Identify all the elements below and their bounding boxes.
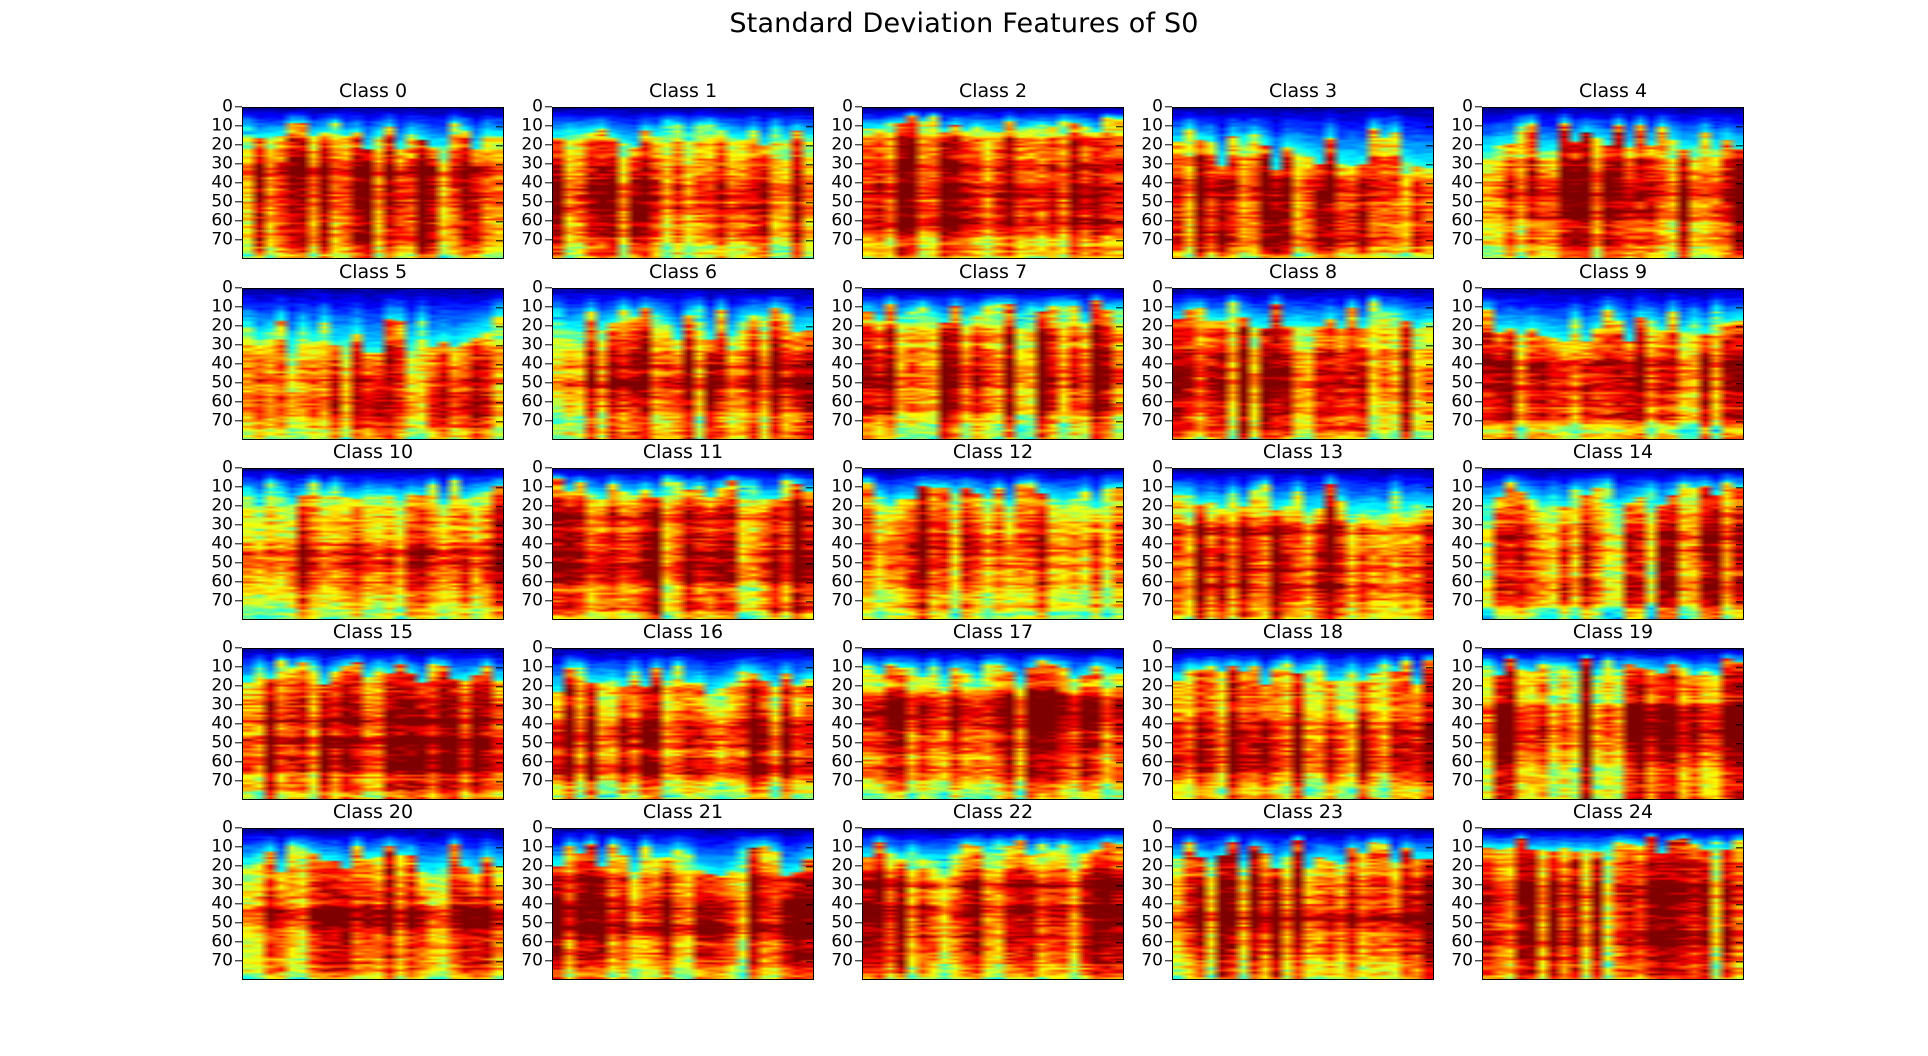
y-tick-label: 30 [1141, 517, 1163, 534]
y-tick-label: 20 [831, 318, 853, 335]
y-tick-mark [1165, 220, 1172, 221]
y-tick-mark [545, 201, 552, 202]
y-tick-label: 50 [1141, 375, 1163, 392]
y-tick-label: 0 [1462, 640, 1473, 657]
subplot-title: Class 7 [862, 261, 1124, 283]
subplot-title: Class 18 [1172, 621, 1434, 643]
y-tick-mark-right [1116, 724, 1123, 725]
y-tick-mark [855, 486, 862, 487]
y-tick-label: 10 [1141, 479, 1163, 496]
y-tick-mark-right [496, 544, 503, 545]
y-tick-mark-right [806, 240, 813, 241]
y-tick-mark-right [496, 202, 503, 203]
y-tick-mark [855, 306, 862, 307]
y-tick-mark [235, 486, 242, 487]
y-tick-label: 40 [521, 175, 543, 192]
heatmap-axes [1482, 828, 1744, 980]
y-tick-mark-right [1116, 563, 1123, 564]
subplot-class-11: Class 11010203040506070 [552, 468, 814, 620]
y-tick-label: 10 [1141, 839, 1163, 856]
y-tick-mark-right [1426, 563, 1433, 564]
y-tick-label: 40 [1451, 896, 1473, 913]
y-tick-mark [1475, 524, 1482, 525]
y-axis: 010203040506070 [1126, 828, 1172, 980]
y-tick-mark-right [1426, 601, 1433, 602]
y-tick-mark [545, 960, 552, 961]
y-tick-mark-right [1736, 421, 1743, 422]
y-tick-label: 70 [1451, 953, 1473, 970]
y-tick-mark-right [1736, 525, 1743, 526]
y-tick-mark-right [1426, 183, 1433, 184]
y-tick-mark [235, 742, 242, 743]
y-tick-mark [855, 287, 862, 288]
y-tick-label: 10 [211, 659, 233, 676]
y-tick-mark [855, 144, 862, 145]
y-tick-label: 50 [1141, 555, 1163, 572]
y-tick-mark [1165, 467, 1172, 468]
subplot-title: Class 23 [1172, 801, 1434, 823]
heatmap-axes [1172, 107, 1434, 259]
heatmap-image [863, 289, 1123, 439]
y-tick-mark-right [806, 126, 813, 127]
y-tick-mark-right [496, 307, 503, 308]
y-tick-label: 30 [521, 337, 543, 354]
y-tick-mark-right [496, 326, 503, 327]
y-tick-mark [1475, 884, 1482, 885]
y-tick-label: 20 [521, 137, 543, 154]
y-tick-mark [1165, 884, 1172, 885]
y-tick-mark-right [806, 648, 813, 649]
y-tick-mark [1165, 742, 1172, 743]
y-tick-mark-right [1426, 686, 1433, 687]
subplot-title: Class 11 [552, 441, 814, 463]
y-tick-mark-right [806, 847, 813, 848]
y-tick-mark [235, 163, 242, 164]
y-tick-mark [855, 780, 862, 781]
y-tick-label: 30 [1141, 337, 1163, 354]
y-tick-mark-right [1116, 582, 1123, 583]
y-tick-label: 20 [211, 498, 233, 515]
y-tick-label: 60 [1451, 213, 1473, 230]
y-tick-mark-right [1116, 240, 1123, 241]
heatmap-axes [552, 468, 814, 620]
y-tick-label: 50 [1451, 375, 1473, 392]
y-tick-mark-right [806, 743, 813, 744]
y-tick-mark-right [1116, 364, 1123, 365]
y-tick-mark [235, 723, 242, 724]
y-tick-mark [235, 287, 242, 288]
y-tick-label: 50 [831, 915, 853, 932]
subplot-title: Class 2 [862, 80, 1124, 102]
y-tick-mark [1475, 287, 1482, 288]
y-tick-mark [545, 543, 552, 544]
y-tick-mark-right [1736, 866, 1743, 867]
y-tick-mark [1475, 505, 1482, 506]
y-tick-mark-right [806, 781, 813, 782]
y-tick-mark-right [1736, 762, 1743, 763]
y-tick-mark-right [1426, 364, 1433, 365]
y-tick-label: 60 [211, 394, 233, 411]
y-tick-mark-right [1426, 525, 1433, 526]
y-tick-label: 0 [222, 640, 233, 657]
y-tick-label: 30 [521, 877, 543, 894]
y-tick-mark [545, 524, 552, 525]
y-tick-label: 40 [211, 536, 233, 553]
y-tick-label: 30 [211, 517, 233, 534]
y-tick-label: 10 [211, 839, 233, 856]
y-tick-mark-right [806, 221, 813, 222]
y-tick-mark-right [496, 582, 503, 583]
y-tick-label: 10 [1141, 299, 1163, 316]
y-tick-mark-right [496, 145, 503, 146]
y-tick-mark-right [806, 828, 813, 829]
y-tick-mark [1165, 581, 1172, 582]
y-tick-mark [235, 144, 242, 145]
y-tick-mark-right [496, 402, 503, 403]
y-tick-label: 10 [1451, 299, 1473, 316]
y-tick-mark [1475, 144, 1482, 145]
y-tick-mark [235, 201, 242, 202]
y-tick-mark [235, 685, 242, 686]
y-axis: 010203040506070 [816, 468, 862, 620]
y-tick-mark [545, 325, 552, 326]
y-tick-label: 50 [831, 194, 853, 211]
heatmap-image [1173, 289, 1433, 439]
y-tick-label: 30 [211, 337, 233, 354]
y-tick-mark [855, 467, 862, 468]
y-tick-label: 40 [211, 896, 233, 913]
y-tick-mark-right [1426, 506, 1433, 507]
y-tick-mark-right [1116, 383, 1123, 384]
y-tick-label: 20 [1451, 858, 1473, 875]
y-tick-label: 20 [211, 318, 233, 335]
y-tick-label: 50 [831, 735, 853, 752]
y-tick-mark-right [1426, 781, 1433, 782]
y-axis: 010203040506070 [506, 648, 552, 800]
y-tick-label: 0 [1152, 460, 1163, 477]
y-tick-mark [855, 106, 862, 107]
y-tick-mark [545, 884, 552, 885]
y-tick-mark [1165, 363, 1172, 364]
subplot-class-6: Class 6010203040506070 [552, 288, 814, 440]
heatmap-image [863, 469, 1123, 619]
y-tick-mark-right [1426, 240, 1433, 241]
heatmap-image [553, 649, 813, 799]
subplot-class-14: Class 14010203040506070 [1482, 468, 1744, 620]
y-tick-mark [1165, 666, 1172, 667]
y-tick-mark-right [496, 164, 503, 165]
subplot-class-8: Class 8010203040506070 [1172, 288, 1434, 440]
y-tick-label: 60 [521, 574, 543, 591]
subplot-title: Class 9 [1482, 261, 1744, 283]
y-tick-mark [855, 420, 862, 421]
y-tick-mark [235, 363, 242, 364]
y-tick-mark [1165, 562, 1172, 563]
y-tick-mark-right [1116, 202, 1123, 203]
y-tick-mark-right [496, 667, 503, 668]
y-tick-mark [855, 761, 862, 762]
y-tick-mark [1165, 201, 1172, 202]
y-tick-label: 50 [1141, 915, 1163, 932]
y-tick-mark-right [1736, 847, 1743, 848]
y-tick-mark-right [1736, 107, 1743, 108]
y-tick-mark [1475, 239, 1482, 240]
y-tick-label: 60 [521, 394, 543, 411]
y-tick-label: 0 [842, 640, 853, 657]
y-tick-mark-right [496, 885, 503, 886]
y-tick-label: 60 [1141, 213, 1163, 230]
heatmap-image [243, 649, 503, 799]
y-tick-mark-right [1116, 506, 1123, 507]
y-tick-mark [545, 239, 552, 240]
subplot-class-17: Class 17010203040506070 [862, 648, 1124, 800]
y-tick-label: 70 [1451, 593, 1473, 610]
y-tick-mark [1165, 125, 1172, 126]
heatmap-axes [242, 648, 504, 800]
subplot-title: Class 1 [552, 80, 814, 102]
heatmap-axes [552, 107, 814, 259]
y-tick-mark-right [1116, 468, 1123, 469]
y-tick-mark [855, 600, 862, 601]
y-tick-mark [545, 922, 552, 923]
y-tick-label: 0 [1462, 99, 1473, 116]
y-tick-mark-right [806, 866, 813, 867]
y-tick-mark [235, 704, 242, 705]
y-tick-mark [545, 486, 552, 487]
y-tick-label: 40 [831, 356, 853, 373]
heatmap-axes [552, 648, 814, 800]
y-tick-label: 70 [831, 413, 853, 430]
y-tick-label: 40 [1141, 716, 1163, 733]
y-tick-mark-right [1116, 126, 1123, 127]
y-tick-label: 30 [831, 337, 853, 354]
y-tick-label: 0 [1462, 280, 1473, 297]
y-tick-mark [1165, 401, 1172, 402]
y-axis: 010203040506070 [506, 107, 552, 259]
y-tick-mark-right [1116, 781, 1123, 782]
y-tick-mark-right [1736, 667, 1743, 668]
subplot-title: Class 8 [1172, 261, 1434, 283]
y-tick-label: 0 [1462, 460, 1473, 477]
y-tick-mark-right [806, 686, 813, 687]
y-tick-mark [235, 562, 242, 563]
y-tick-label: 20 [1451, 137, 1473, 154]
y-tick-mark [235, 420, 242, 421]
y-tick-mark [1165, 524, 1172, 525]
y-tick-mark [1165, 600, 1172, 601]
y-tick-label: 50 [1451, 735, 1473, 752]
y-tick-label: 70 [831, 593, 853, 610]
y-tick-mark-right [1736, 705, 1743, 706]
y-tick-label: 60 [521, 934, 543, 951]
y-tick-mark-right [496, 828, 503, 829]
y-tick-mark [1165, 486, 1172, 487]
y-tick-label: 0 [532, 820, 543, 837]
y-tick-mark [1475, 543, 1482, 544]
y-tick-mark [545, 647, 552, 648]
y-axis: 010203040506070 [196, 288, 242, 440]
y-tick-mark-right [1426, 221, 1433, 222]
subplot-class-3: Class 3010203040506070 [1172, 107, 1434, 259]
y-tick-mark-right [496, 724, 503, 725]
y-tick-mark [235, 505, 242, 506]
y-tick-mark-right [1736, 345, 1743, 346]
subplot-class-16: Class 16010203040506070 [552, 648, 814, 800]
heatmap-axes [1482, 288, 1744, 440]
y-tick-mark [545, 562, 552, 563]
y-tick-mark [1165, 239, 1172, 240]
y-tick-mark-right [806, 307, 813, 308]
y-tick-label: 60 [211, 213, 233, 230]
y-tick-label: 20 [211, 858, 233, 875]
y-tick-label: 30 [831, 517, 853, 534]
y-tick-mark [235, 960, 242, 961]
y-tick-mark-right [496, 942, 503, 943]
y-tick-mark-right [1736, 288, 1743, 289]
y-tick-label: 60 [831, 213, 853, 230]
y-tick-label: 40 [831, 896, 853, 913]
y-tick-mark [1475, 922, 1482, 923]
y-tick-label: 30 [211, 156, 233, 173]
y-tick-mark [1165, 960, 1172, 961]
y-tick-label: 40 [1451, 716, 1473, 733]
y-axis: 010203040506070 [816, 107, 862, 259]
y-tick-mark-right [1736, 563, 1743, 564]
y-tick-label: 70 [831, 232, 853, 249]
subplot-title: Class 21 [552, 801, 814, 823]
y-tick-mark-right [1736, 383, 1743, 384]
y-tick-label: 20 [521, 858, 543, 875]
heatmap-axes [1482, 468, 1744, 620]
y-tick-mark [855, 505, 862, 506]
subplot-title: Class 4 [1482, 80, 1744, 102]
y-tick-mark-right [496, 648, 503, 649]
y-tick-label: 10 [1451, 479, 1473, 496]
y-tick-mark [1475, 420, 1482, 421]
y-tick-mark [1475, 306, 1482, 307]
y-tick-label: 70 [1141, 413, 1163, 430]
y-tick-label: 60 [1451, 574, 1473, 591]
y-tick-label: 0 [222, 460, 233, 477]
y-tick-mark [235, 941, 242, 942]
y-tick-mark [855, 382, 862, 383]
y-tick-label: 10 [1141, 118, 1163, 135]
y-tick-label: 20 [1451, 678, 1473, 695]
y-tick-mark [855, 666, 862, 667]
y-tick-mark [1475, 761, 1482, 762]
y-tick-mark [1165, 761, 1172, 762]
heatmap-axes [862, 468, 1124, 620]
y-tick-label: 60 [831, 934, 853, 951]
y-tick-mark-right [496, 345, 503, 346]
heatmap-axes [242, 107, 504, 259]
y-tick-mark-right [1426, 885, 1433, 886]
y-tick-mark [1475, 201, 1482, 202]
y-tick-mark-right [806, 421, 813, 422]
y-tick-mark-right [1736, 601, 1743, 602]
y-tick-label: 10 [1141, 659, 1163, 676]
y-tick-mark-right [1736, 487, 1743, 488]
y-tick-label: 0 [532, 99, 543, 116]
y-tick-label: 50 [1141, 194, 1163, 211]
y-tick-label: 40 [1141, 356, 1163, 373]
y-axis: 010203040506070 [506, 288, 552, 440]
y-tick-mark [855, 363, 862, 364]
y-tick-mark [1165, 420, 1172, 421]
y-tick-mark [1165, 106, 1172, 107]
y-tick-mark-right [1116, 221, 1123, 222]
y-tick-mark [235, 182, 242, 183]
y-tick-label: 70 [521, 232, 543, 249]
y-tick-mark [235, 761, 242, 762]
subplot-title: Class 19 [1482, 621, 1744, 643]
heatmap-image [243, 108, 503, 258]
y-tick-label: 0 [532, 640, 543, 657]
y-tick-label: 40 [1451, 356, 1473, 373]
y-tick-label: 30 [211, 697, 233, 714]
y-tick-label: 20 [1451, 318, 1473, 335]
y-tick-mark [855, 903, 862, 904]
subplot-class-10: Class 10010203040506070 [242, 468, 504, 620]
y-tick-label: 70 [211, 773, 233, 790]
y-tick-label: 30 [521, 517, 543, 534]
y-tick-mark-right [1736, 743, 1743, 744]
subplot-title: Class 5 [242, 261, 504, 283]
y-tick-mark [1475, 903, 1482, 904]
y-tick-mark-right [496, 686, 503, 687]
y-tick-mark-right [806, 107, 813, 108]
y-tick-mark-right [1116, 648, 1123, 649]
y-tick-label: 10 [831, 118, 853, 135]
y-tick-mark [235, 600, 242, 601]
y-tick-mark [1475, 220, 1482, 221]
y-tick-mark-right [1426, 164, 1433, 165]
y-tick-mark [1475, 827, 1482, 828]
y-tick-mark [855, 163, 862, 164]
y-tick-mark-right [1426, 402, 1433, 403]
y-tick-mark-right [1116, 866, 1123, 867]
y-tick-mark-right [1116, 847, 1123, 848]
heatmap-image [553, 289, 813, 439]
y-tick-mark [1475, 742, 1482, 743]
y-tick-mark-right [1116, 544, 1123, 545]
y-tick-label: 0 [842, 99, 853, 116]
y-tick-label: 20 [1141, 858, 1163, 875]
y-tick-mark-right [496, 705, 503, 706]
y-tick-label: 30 [1141, 877, 1163, 894]
subplot-class-21: Class 21010203040506070 [552, 828, 814, 980]
y-tick-mark-right [1116, 762, 1123, 763]
y-axis: 010203040506070 [816, 828, 862, 980]
y-tick-mark-right [496, 601, 503, 602]
y-tick-mark-right [496, 847, 503, 848]
y-tick-label: 50 [831, 375, 853, 392]
y-tick-label: 10 [1451, 659, 1473, 676]
y-tick-label: 30 [831, 877, 853, 894]
y-tick-label: 0 [842, 820, 853, 837]
y-tick-mark-right [806, 364, 813, 365]
y-tick-mark [1165, 723, 1172, 724]
y-tick-mark-right [806, 942, 813, 943]
subplot-title: Class 24 [1482, 801, 1744, 823]
heatmap-axes [862, 288, 1124, 440]
y-tick-mark-right [806, 383, 813, 384]
y-tick-label: 40 [831, 175, 853, 192]
y-tick-mark-right [1116, 288, 1123, 289]
y-tick-mark [235, 239, 242, 240]
y-tick-mark [235, 524, 242, 525]
y-tick-mark-right [806, 904, 813, 905]
